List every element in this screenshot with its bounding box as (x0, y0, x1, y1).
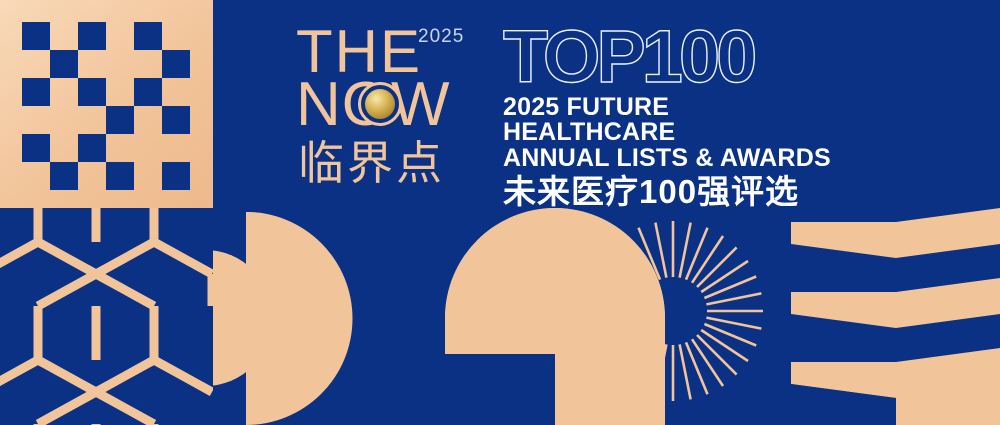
checker-cell (134, 162, 162, 190)
headline-english-line2: ANNUAL LISTS & AWARDS (503, 146, 848, 172)
checker-cell (162, 162, 190, 190)
headline-block: TOP100 2025 FUTURE HEALTHCARE ANNUAL LIS… (503, 24, 848, 210)
checkerboard-grid (22, 22, 190, 190)
checker-cell (78, 50, 106, 78)
checker-cell (78, 162, 106, 190)
notched-circle-body (445, 208, 665, 425)
checker-cell (78, 134, 106, 162)
stripe-right-1 (896, 208, 1000, 258)
decorative-shapes-row (213, 208, 1000, 425)
stripe-right-3 (896, 348, 1000, 425)
checker-cell (106, 50, 134, 78)
checker-cell (162, 106, 190, 134)
checker-cell (50, 162, 78, 190)
checker-cell (50, 78, 78, 106)
headline-english-line1: 2025 FUTURE HEALTHCARE (503, 95, 848, 146)
checker-cell (78, 106, 106, 134)
shapes-svg (213, 208, 1000, 425)
top100-title: TOP100 (503, 24, 848, 91)
checker-cell (134, 50, 162, 78)
checkerboard-block (0, 0, 213, 208)
checker-cell (106, 78, 134, 106)
stripe-right-2 (896, 278, 1000, 328)
gold-sphere-icon (358, 82, 402, 126)
checker-cell (50, 106, 78, 134)
half-circle-fill (246, 212, 352, 424)
promo-banner: THE 2025 NOW 临界点 TOP100 2025 FUTURE HEAL… (0, 0, 1000, 425)
logo-year-text: 2025 (418, 26, 464, 48)
starburst-shape (583, 221, 763, 401)
checker-cell (106, 162, 134, 190)
checker-cell (106, 22, 134, 50)
checker-cell (22, 78, 50, 106)
checker-cell (162, 22, 190, 50)
brand-logo: THE 2025 NOW 临界点 (296, 22, 486, 192)
stripe-left-2 (791, 292, 896, 328)
headline-chinese: 未来医疗100强评选 (503, 174, 848, 210)
checker-cell (106, 106, 134, 134)
checker-cell (22, 50, 50, 78)
checker-cell (106, 134, 134, 162)
hexagon-lattice-svg (0, 208, 213, 425)
checker-cell (162, 78, 190, 106)
checker-cell (22, 162, 50, 190)
checker-cell (78, 22, 106, 50)
checker-cell (78, 78, 106, 106)
checker-cell (22, 22, 50, 50)
checker-cell (134, 134, 162, 162)
diagonal-stripes-pattern (791, 208, 1000, 425)
logo-chinese-text: 临界点 (298, 140, 445, 186)
checker-cell (134, 78, 162, 106)
checker-cell (22, 106, 50, 134)
checker-cell (50, 22, 78, 50)
checker-cell (162, 50, 190, 78)
checker-cell (50, 134, 78, 162)
checker-cell (162, 134, 190, 162)
checker-cell (134, 22, 162, 50)
checker-cell (134, 106, 162, 134)
checker-cell (22, 134, 50, 162)
checker-cell (50, 50, 78, 78)
stripe-left-1 (791, 222, 896, 258)
hexagon-lattice-pattern (0, 208, 213, 425)
